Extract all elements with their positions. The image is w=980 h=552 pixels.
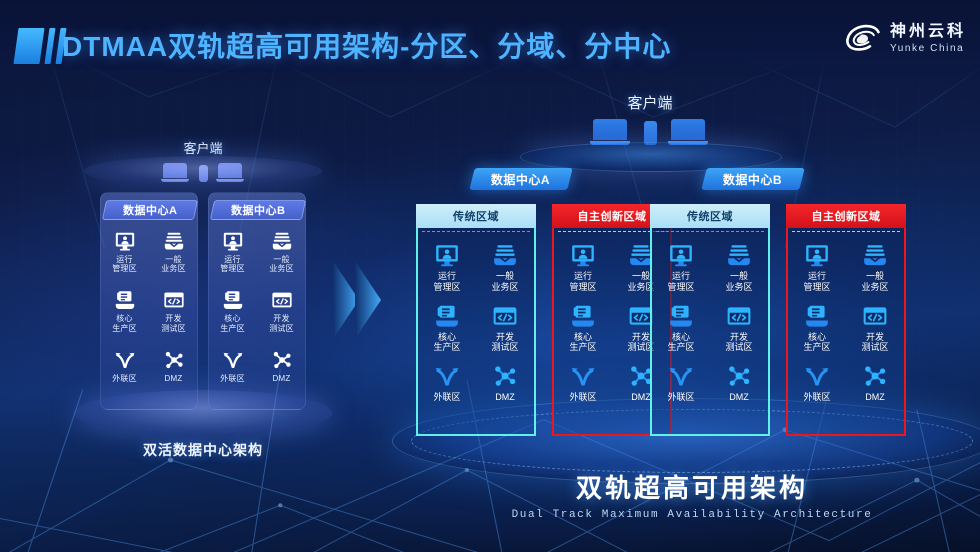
double-chevron-right-icon xyxy=(333,255,389,345)
code-brackets-icon xyxy=(163,289,185,311)
zone-grid: 运行管理区 一般业务区 xyxy=(652,242,768,403)
column-dashed-divider xyxy=(656,231,764,232)
zone-cell: 运行管理区 xyxy=(788,242,846,293)
zone-label: 核心生产区 xyxy=(667,332,694,354)
zone-cell: 运行管理区 xyxy=(652,242,710,293)
zone-label: 开发测试区 xyxy=(269,314,294,332)
code-brackets-icon xyxy=(726,303,752,329)
zone-cell: 运行管理区 xyxy=(208,230,257,273)
brand-logo: 神州云科 Yunke China xyxy=(844,22,966,56)
tray-stack-icon xyxy=(492,242,518,268)
server-rack-icon xyxy=(222,289,244,311)
zone-cell: DMZ xyxy=(476,363,534,403)
left-architecture-group: 数据中心A 数据中心B 运行管理区 xyxy=(78,122,328,452)
zone-label: 运行管理区 xyxy=(803,271,830,293)
zone-cell: 一般业务区 xyxy=(476,242,534,293)
left-dc-badge-b: 数据中心B xyxy=(210,200,306,220)
crossing-arrows-icon xyxy=(114,349,136,371)
zone-cell: 一般业务区 xyxy=(149,230,198,273)
column-header: 自主创新区域 xyxy=(786,204,906,228)
column-body: 运行管理区 一般业务区 xyxy=(786,228,906,436)
zone-label: 开发测试区 xyxy=(861,332,888,354)
right-clients-group: 客户端 xyxy=(575,92,725,145)
right-dc-badge-a-label: 数据中心A xyxy=(491,171,550,188)
crossing-arrows-icon xyxy=(434,363,460,389)
code-brackets-icon xyxy=(271,289,293,311)
crossing-arrows-icon xyxy=(222,349,244,371)
three-bars-icon xyxy=(13,28,66,64)
person-monitor-icon xyxy=(668,242,694,268)
zone-label: 运行管理区 xyxy=(569,271,596,293)
zone-label: 一般业务区 xyxy=(491,271,518,293)
zone-label: 外联区 xyxy=(220,374,245,383)
right-dc-badge-b: 数据中心B xyxy=(701,168,804,190)
server-rack-icon xyxy=(668,303,694,329)
zone-cell: 一般业务区 xyxy=(257,230,306,273)
column-body: 运行管理区 一般业务区 xyxy=(416,228,536,436)
zone-cell: 核心生产区 xyxy=(652,303,710,354)
zone-label: 运行管理区 xyxy=(667,271,694,293)
zone-label: 运行管理区 xyxy=(220,255,245,273)
zone-cell: 核心生产区 xyxy=(100,289,149,332)
zone-grid: 运行管理区 一般业务区 xyxy=(788,242,904,403)
right-caption: 双轨超高可用架构 Dual Track Maximum Availability… xyxy=(392,468,980,521)
crossing-arrows-icon xyxy=(570,363,596,389)
zone-cell: 外联区 xyxy=(788,363,846,403)
zone-cell: DMZ xyxy=(846,363,904,403)
zone-label: 外联区 xyxy=(112,374,137,383)
zone-label: 开发测试区 xyxy=(491,332,518,354)
zone-label: DMZ xyxy=(495,392,515,403)
right-architecture-group: 数据中心A 数据中心B 传统区域 xyxy=(404,168,972,458)
laptop-icon xyxy=(593,119,630,145)
zone-cell: 开发测试区 xyxy=(257,289,306,332)
right-caption-cn: 双轨超高可用架构 xyxy=(392,468,980,505)
zone-label: 核心生产区 xyxy=(220,314,245,332)
right-caption-en: Dual Track Maximum Availability Architec… xyxy=(392,509,980,521)
zone-label: 外联区 xyxy=(569,392,596,403)
molecule-nodes-icon xyxy=(492,363,518,389)
left-dc-badge-a-label: 数据中心A xyxy=(123,202,177,218)
person-monitor-icon xyxy=(434,242,460,268)
server-rack-icon xyxy=(570,303,596,329)
page-header: DTMAA双轨超高可用架构-分区、分域、分中心 神州云科 Yunke China xyxy=(0,0,980,92)
left-client-platform xyxy=(84,156,322,186)
laptop-icon xyxy=(671,119,708,145)
zone-cell: 运行管理区 xyxy=(100,230,149,273)
zone-cell: 核心生产区 xyxy=(208,289,257,332)
molecule-nodes-icon xyxy=(271,349,293,371)
left-zone-grid-b: 运行管理区 一般业务区 xyxy=(208,230,306,383)
zone-cell: DMZ xyxy=(257,349,306,383)
column-body: 运行管理区 一般业务区 xyxy=(650,228,770,436)
molecule-nodes-icon xyxy=(163,349,185,371)
left-zone-grid-a: 运行管理区 一般业务区 xyxy=(100,230,198,383)
crossing-arrows-icon xyxy=(804,363,830,389)
zone-cell: 核心生产区 xyxy=(788,303,846,354)
zone-label: 核心生产区 xyxy=(569,332,596,354)
zone-column: 自主创新区域 运行管理区 xyxy=(786,204,906,436)
zone-cell: 一般业务区 xyxy=(846,242,904,293)
zone-label: DMZ xyxy=(165,374,183,383)
zone-label: 开发测试区 xyxy=(161,314,186,332)
zone-label: 核心生产区 xyxy=(803,332,830,354)
zone-label: 外联区 xyxy=(803,392,830,403)
zone-cell: 开发测试区 xyxy=(476,303,534,354)
zone-label: 运行管理区 xyxy=(433,271,460,293)
server-rack-icon xyxy=(804,303,830,329)
zone-label: 核心生产区 xyxy=(433,332,460,354)
left-dc-badge-a: 数据中心A xyxy=(102,200,198,220)
zone-cell: 核心生产区 xyxy=(554,303,612,354)
zone-cell: DMZ xyxy=(149,349,198,383)
slide-canvas: DTMAA双轨超高可用架构-分区、分域、分中心 神州云科 Yunke China… xyxy=(0,0,980,552)
person-monitor-icon xyxy=(804,242,830,268)
column-header: 传统区域 xyxy=(416,204,536,228)
zone-cell: 外联区 xyxy=(418,363,476,403)
tray-stack-icon xyxy=(726,242,752,268)
zone-label: DMZ xyxy=(631,392,651,403)
right-dc-badge-b-label: 数据中心B xyxy=(723,171,782,188)
zone-label: 一般业务区 xyxy=(725,271,752,293)
zone-column: 传统区域 运行管理区 xyxy=(416,204,536,436)
zone-cell: 外联区 xyxy=(554,363,612,403)
zone-cell: 外联区 xyxy=(100,349,149,383)
zone-label: 一般业务区 xyxy=(269,255,294,273)
right-clients-label: 客户端 xyxy=(575,92,725,113)
left-dc-badge-b-label: 数据中心B xyxy=(231,202,285,218)
zone-label: DMZ xyxy=(865,392,885,403)
molecule-nodes-icon xyxy=(862,363,888,389)
zone-cell: 外联区 xyxy=(652,363,710,403)
code-brackets-icon xyxy=(862,303,888,329)
zone-cell: 开发测试区 xyxy=(846,303,904,354)
tray-stack-icon xyxy=(862,242,888,268)
zone-label: 开发测试区 xyxy=(725,332,752,354)
zone-label: 一般业务区 xyxy=(161,255,186,273)
zone-column: 传统区域 运行管理区 xyxy=(650,204,770,436)
zone-cell: 运行管理区 xyxy=(418,242,476,293)
zone-cell: 一般业务区 xyxy=(710,242,768,293)
galaxy-swirl-icon xyxy=(844,22,882,56)
zone-cell: 运行管理区 xyxy=(554,242,612,293)
brand-name-cn: 神州云科 xyxy=(890,24,966,40)
column-dashed-divider xyxy=(422,231,530,232)
zone-label: 核心生产区 xyxy=(112,314,137,332)
tray-stack-icon xyxy=(271,230,293,252)
person-monitor-icon xyxy=(114,230,136,252)
zone-label: 运行管理区 xyxy=(112,255,137,273)
zone-label: 一般业务区 xyxy=(861,271,888,293)
tray-stack-icon xyxy=(163,230,185,252)
zone-grid: 运行管理区 一般业务区 xyxy=(418,242,534,403)
column-header: 传统区域 xyxy=(650,204,770,228)
zone-cell: DMZ xyxy=(710,363,768,403)
page-title: DTMAA双轨超高可用架构-分区、分域、分中心 xyxy=(62,25,671,65)
right-dc-badge-a: 数据中心A xyxy=(469,168,572,190)
person-monitor-icon xyxy=(222,230,244,252)
server-rack-icon xyxy=(114,289,136,311)
code-brackets-icon xyxy=(492,303,518,329)
zone-label: DMZ xyxy=(273,374,291,383)
zone-cell: 外联区 xyxy=(208,349,257,383)
column-dashed-divider xyxy=(792,231,900,232)
server-rack-icon xyxy=(434,303,460,329)
zone-cell: 核心生产区 xyxy=(418,303,476,354)
zone-label: 外联区 xyxy=(667,392,694,403)
crossing-arrows-icon xyxy=(668,363,694,389)
zone-label: DMZ xyxy=(729,392,749,403)
zone-label: 外联区 xyxy=(433,392,460,403)
zone-cell: 开发测试区 xyxy=(710,303,768,354)
brand-name-en: Yunke China xyxy=(890,44,966,54)
person-monitor-icon xyxy=(570,242,596,268)
zone-cell: 开发测试区 xyxy=(149,289,198,332)
molecule-nodes-icon xyxy=(726,363,752,389)
left-caption: 双活数据中心架构 xyxy=(78,440,328,460)
